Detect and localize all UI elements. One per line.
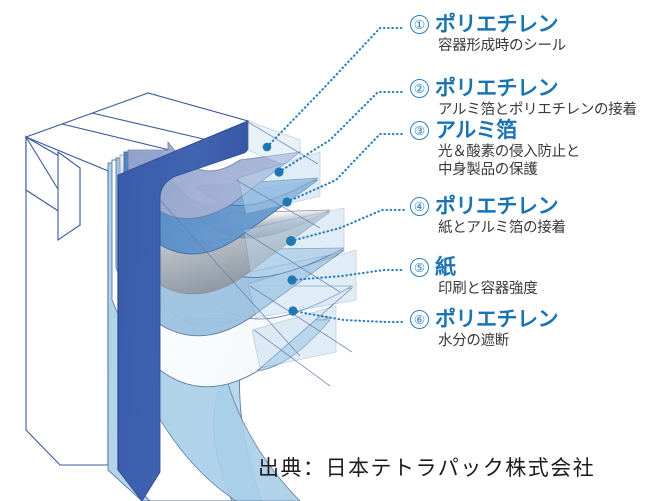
callout-2-number: ② [410, 79, 429, 98]
callout-4-subtitle-line-1: 紙とアルミ箔の接着 [438, 219, 566, 237]
callout-2: ② ポリエチレン アルミ箔とポリエチレンの接着 [410, 76, 637, 119]
carton-outline [26, 137, 108, 465]
leader-dot-5 [287, 275, 296, 284]
callout-2-subtitle: アルミ箔とポリエチレンの接着 [438, 101, 637, 119]
callout-3-subtitle-line-1: 光＆酸素の侵入防止と [438, 143, 580, 161]
source-caption: 出典：日本テトラパック株式会社 [258, 452, 595, 482]
leader-dot-6 [288, 306, 297, 315]
leader-line-1 [267, 28, 404, 147]
callout-5-subtitle-line-1: 印刷と容器強度 [438, 280, 537, 298]
callout-4-number: ④ [410, 197, 429, 216]
leader-dot-2 [274, 167, 283, 176]
callout-1-number: ① [410, 15, 429, 34]
leader-line-2 [279, 92, 404, 172]
callout-4-subtitle: 紙とアルミ箔の接着 [438, 219, 566, 237]
callout-1-subtitle-line-1: 容器形成時のシール [438, 37, 566, 55]
callout-5-subtitle: 印刷と容器強度 [438, 280, 537, 298]
leader-dot-4 [286, 236, 296, 246]
callout-3-body: アルミ箔 光＆酸素の侵入防止と 中身製品の保護 [435, 118, 580, 179]
callout-1-subtitle: 容器形成時のシール [438, 37, 566, 55]
callout-5-title: 紙 [435, 255, 537, 279]
callout-2-body: ポリエチレン アルミ箔とポリエチレンの接着 [435, 76, 637, 119]
callout-4-body: ポリエチレン 紙とアルミ箔の接着 [435, 194, 566, 237]
callout-6-number: ⑥ [410, 310, 429, 329]
callout-3-title: アルミ箔 [435, 118, 580, 142]
callout-3-subtitle-line-2: 中身製品の保護 [438, 161, 580, 179]
callout-3-subtitle: 光＆酸素の侵入防止と 中身製品の保護 [438, 143, 580, 179]
callout-1-body: ポリエチレン 容器形成時のシール [435, 12, 566, 55]
callout-2-title: ポリエチレン [435, 76, 637, 100]
callout-5: ⑤ 紙 印刷と容器強度 [410, 255, 537, 298]
callout-4: ④ ポリエチレン 紙とアルミ箔の接着 [410, 194, 566, 237]
callout-5-number: ⑤ [410, 258, 429, 277]
callout-6-title: ポリエチレン [435, 307, 558, 331]
callout-1-title: ポリエチレン [435, 12, 566, 36]
leader-dot-1 [263, 143, 272, 152]
callout-6-subtitle-line-1: 水分の遮断 [438, 332, 558, 350]
leader-dot-3 [282, 197, 291, 206]
carton-layer-diagram-page: ① ポリエチレン 容器形成時のシール ② ポリエチレン アルミ箔とポリエチレンの… [0, 0, 650, 501]
callout-3: ③ アルミ箔 光＆酸素の侵入防止と 中身製品の保護 [410, 118, 580, 179]
callout-4-title: ポリエチレン [435, 194, 566, 218]
callout-3-number: ③ [410, 121, 429, 140]
callout-6-body: ポリエチレン 水分の遮断 [435, 307, 558, 350]
callout-6-subtitle: 水分の遮断 [438, 332, 558, 350]
callout-1: ① ポリエチレン 容器形成時のシール [410, 12, 566, 55]
callout-5-body: 紙 印刷と容器強度 [435, 255, 537, 298]
callout-2-subtitle-line-1: アルミ箔とポリエチレンの接着 [438, 101, 637, 119]
callout-6: ⑥ ポリエチレン 水分の遮断 [410, 307, 558, 350]
